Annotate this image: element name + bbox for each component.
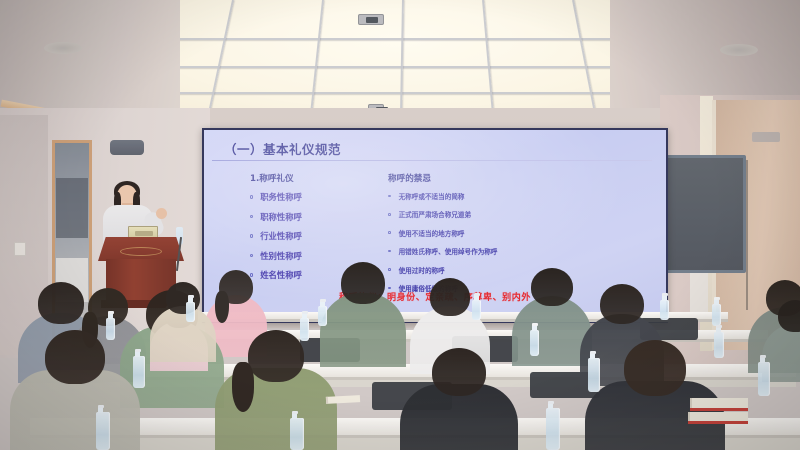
water-bottle: [106, 318, 115, 340]
slide-title: （一）基本礼仪规范: [224, 139, 656, 158]
list-item-label: 无称呼或不适当的简称: [399, 191, 465, 201]
water-bottle: [290, 418, 304, 450]
water-bottle: [546, 408, 560, 450]
air-vent-icon: [752, 132, 780, 142]
person-head: [432, 348, 486, 396]
bullet-dot-icon: [250, 234, 253, 237]
person-head: [248, 330, 304, 382]
water-bottle: [660, 300, 669, 320]
right-column-heading: 称呼的禁忌: [388, 172, 660, 184]
list-item-label: 用错姓氏称呼、使用绰号作为称呼: [399, 246, 498, 256]
bullet-dot-icon: [388, 250, 391, 253]
water-bottle: [133, 356, 145, 388]
notebook: [688, 412, 748, 421]
wall-speaker-icon: [110, 140, 144, 155]
person-head: [600, 284, 644, 324]
notebook-edge: [690, 408, 748, 411]
person-head: [45, 330, 105, 384]
person-back-beige: [150, 282, 216, 370]
person-head: [624, 340, 686, 396]
list-item-label: 性别性称呼: [260, 250, 302, 262]
notebook-edge: [688, 421, 748, 424]
list-item: 行业性称呼: [250, 230, 384, 242]
person-head: [778, 300, 800, 332]
water-bottle: [714, 332, 724, 358]
presenter-hand: [156, 208, 167, 219]
person-r3-plaid: [215, 330, 337, 450]
list-item-label: 行业性称呼: [260, 230, 302, 242]
water-bottle: [472, 300, 481, 320]
classroom-photo: （一）基本礼仪规范 1.称呼礼仪 职务性称呼 职称性称呼: [0, 0, 800, 450]
left-column-heading: 1.称呼礼仪: [250, 172, 384, 184]
list-item: 正式而严肃场合称兄道弟: [388, 209, 660, 219]
list-item: 性别性称呼: [250, 250, 384, 262]
water-bottle: [186, 302, 195, 322]
bullet-dot-icon: [250, 254, 253, 257]
notebook: [690, 398, 748, 408]
list-item: 无称呼或不适当的简称: [388, 191, 660, 201]
person-head: [430, 278, 470, 316]
water-bottle: [96, 412, 110, 450]
water-bottle: [300, 318, 309, 341]
left-doorway-interior: [56, 178, 88, 238]
list-item-label: 正式而严肃场合称兄道弟: [399, 209, 472, 219]
water-bottle: [588, 358, 600, 392]
water-bottle: [758, 362, 770, 396]
water-bottle: [530, 330, 539, 356]
bullet-dot-icon: [250, 195, 253, 198]
podium-emblem: [120, 247, 162, 256]
recessed-downlight-icon: [720, 44, 758, 56]
wall-monitor[interactable]: [664, 155, 746, 273]
list-item: 使用不适当的地方称呼: [388, 228, 660, 238]
bullet-dot-icon: [388, 231, 391, 234]
list-item: 职务性称呼: [250, 191, 384, 203]
list-item-label: 职称性称呼: [260, 211, 302, 223]
list-item: 用错姓氏称呼、使用绰号作为称呼: [388, 246, 660, 256]
bullet-dot-icon: [388, 195, 391, 198]
person-r3-black: [400, 348, 518, 450]
light-switch[interactable]: [14, 242, 26, 256]
notebook: [326, 395, 360, 404]
list-item: 职称性称呼: [250, 211, 384, 223]
water-bottle: [318, 306, 327, 326]
slide-title-rule: [212, 160, 652, 161]
person-shoulders: [150, 306, 216, 362]
ceiling-projector-icon: [358, 14, 384, 25]
recessed-downlight-icon: [44, 42, 82, 54]
bullet-dot-icon: [250, 215, 253, 218]
person-head: [531, 268, 573, 306]
person-r3-left-long: [10, 330, 140, 450]
person-head: [341, 262, 385, 304]
person-head: [219, 270, 253, 304]
water-bottle: [712, 304, 721, 326]
list-item-label: 使用不适当的地方称呼: [399, 228, 465, 238]
list-item-label: 职务性称呼: [260, 191, 302, 203]
person-r3-right-dark: [585, 340, 725, 450]
bullet-dot-icon: [388, 213, 391, 216]
